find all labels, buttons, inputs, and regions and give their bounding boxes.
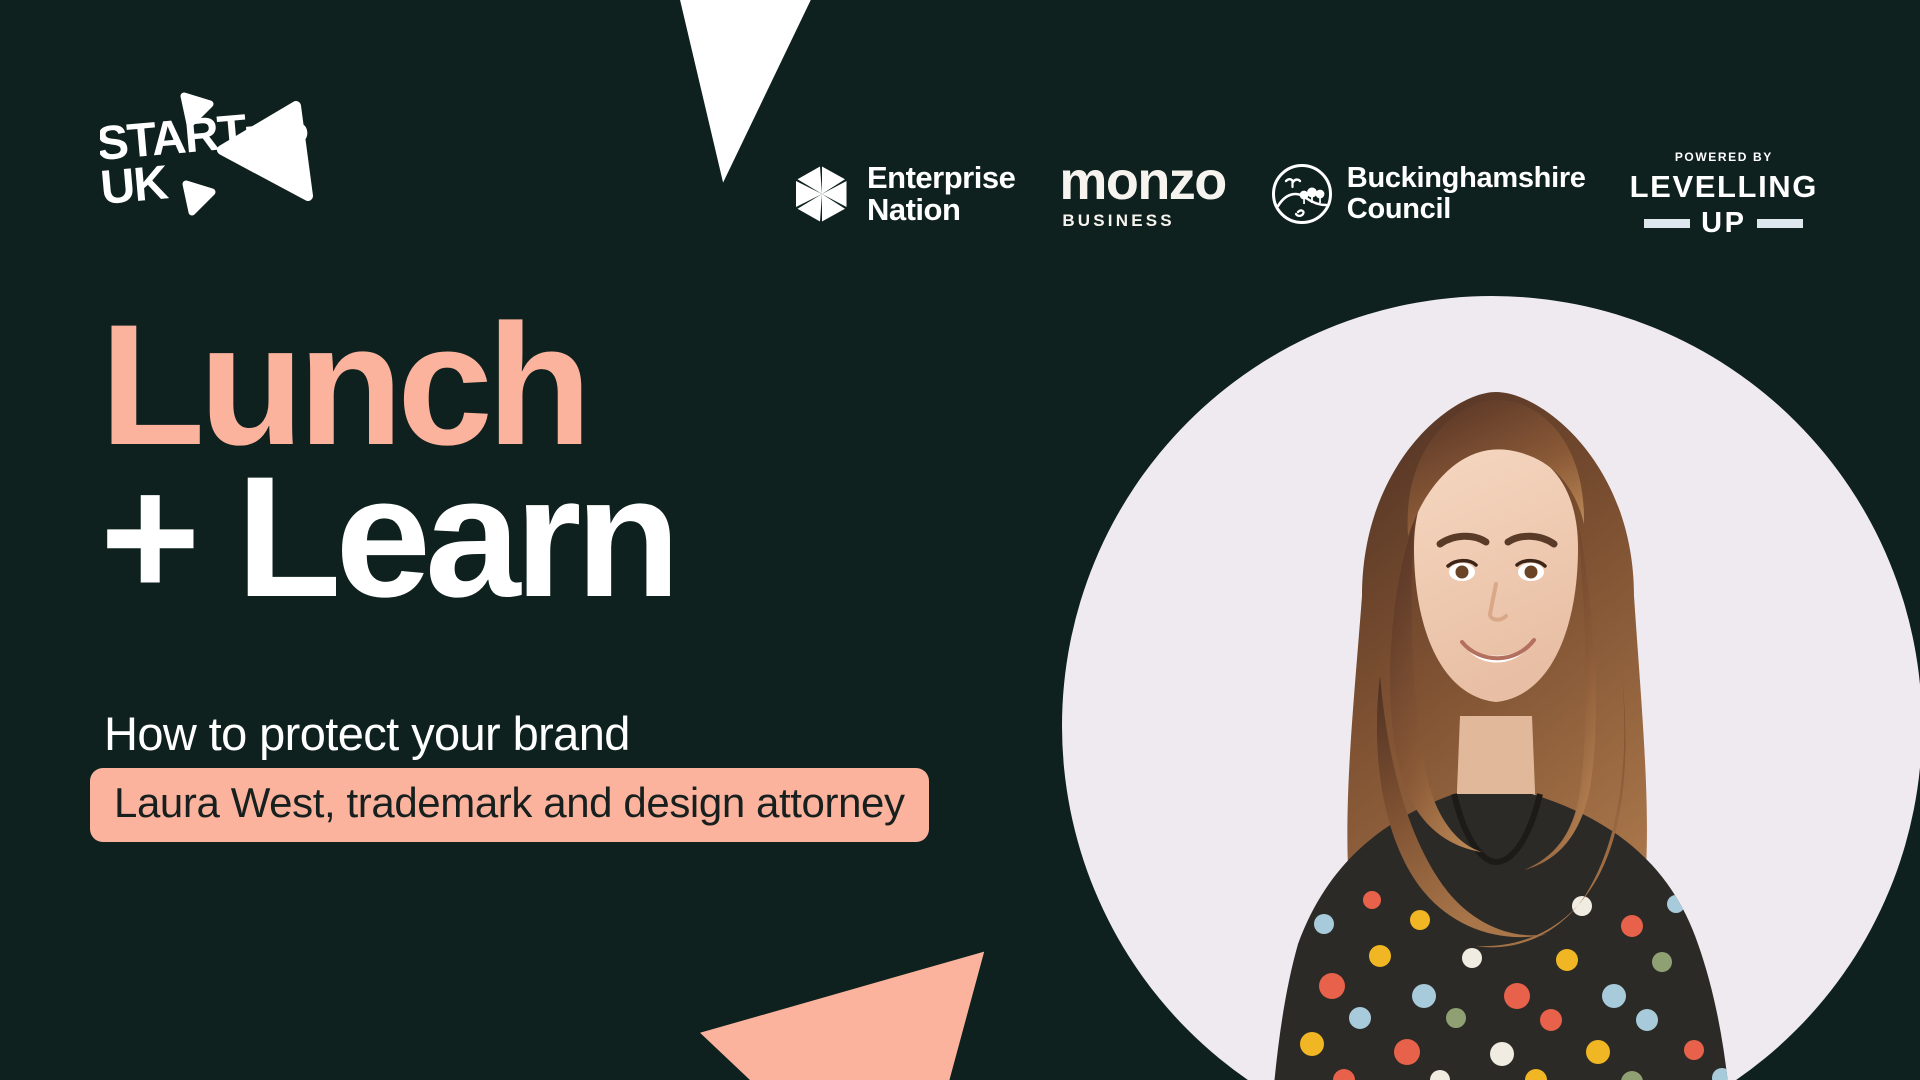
levelling-up-line-2: UP [1701, 209, 1746, 238]
decorative-salmon-triangle [700, 940, 990, 1080]
monzo-business-label: BUSINESS [1062, 211, 1175, 231]
portrait-circle-backdrop [1062, 296, 1920, 1080]
headline-line-1: Lunch [100, 312, 920, 460]
levelling-up-powered-by: POWERED BY [1675, 150, 1773, 164]
monzo-wordmark: monzo [1059, 157, 1225, 207]
enterprise-nation-wordmark: Enterprise Nation [867, 162, 1015, 226]
partner-levelling-up: POWERED BY LEVELLING UP [1630, 148, 1818, 240]
partner-logo-row: Enterprise Nation monzo BUSINESS [791, 148, 1818, 240]
speaker-portrait [1062, 296, 1920, 1080]
bucks-line-2: Council [1347, 193, 1451, 225]
headline-line-2: + Learn [100, 464, 920, 612]
subtitle: How to protect your brand [104, 706, 630, 761]
headline-block: Lunch + Learn [100, 312, 920, 612]
svg-text:UP: UP [242, 113, 311, 171]
svg-text:UK: UK [100, 156, 171, 215]
speaker-portrait-illustration [1062, 296, 1920, 1080]
partner-monzo-business: monzo BUSINESS [1059, 148, 1225, 240]
speaker-name-badge: Laura West, trademark and design attorne… [90, 768, 929, 842]
buckinghamshire-council-wordmark: Buckinghamshire Council [1347, 163, 1586, 224]
levelling-up-bar-left [1644, 219, 1690, 228]
bird-trees-circle-icon [1270, 162, 1334, 226]
promo-slide: START UK UP [0, 0, 1920, 1080]
partner-enterprise-nation: Enterprise Nation [791, 148, 1015, 240]
startup-uk-logo: START UK UP [100, 88, 370, 230]
enterprise-nation-line-1: Enterprise [867, 160, 1015, 195]
partner-buckinghamshire-council: Buckinghamshire Council [1270, 148, 1586, 240]
hexagon-pinwheel-icon [791, 163, 853, 225]
bucks-line-1: Buckinghamshire [1347, 162, 1586, 194]
enterprise-nation-line-2: Nation [867, 192, 960, 227]
levelling-up-line-1: LEVELLING [1630, 171, 1818, 202]
levelling-up-bar-right [1757, 219, 1803, 228]
